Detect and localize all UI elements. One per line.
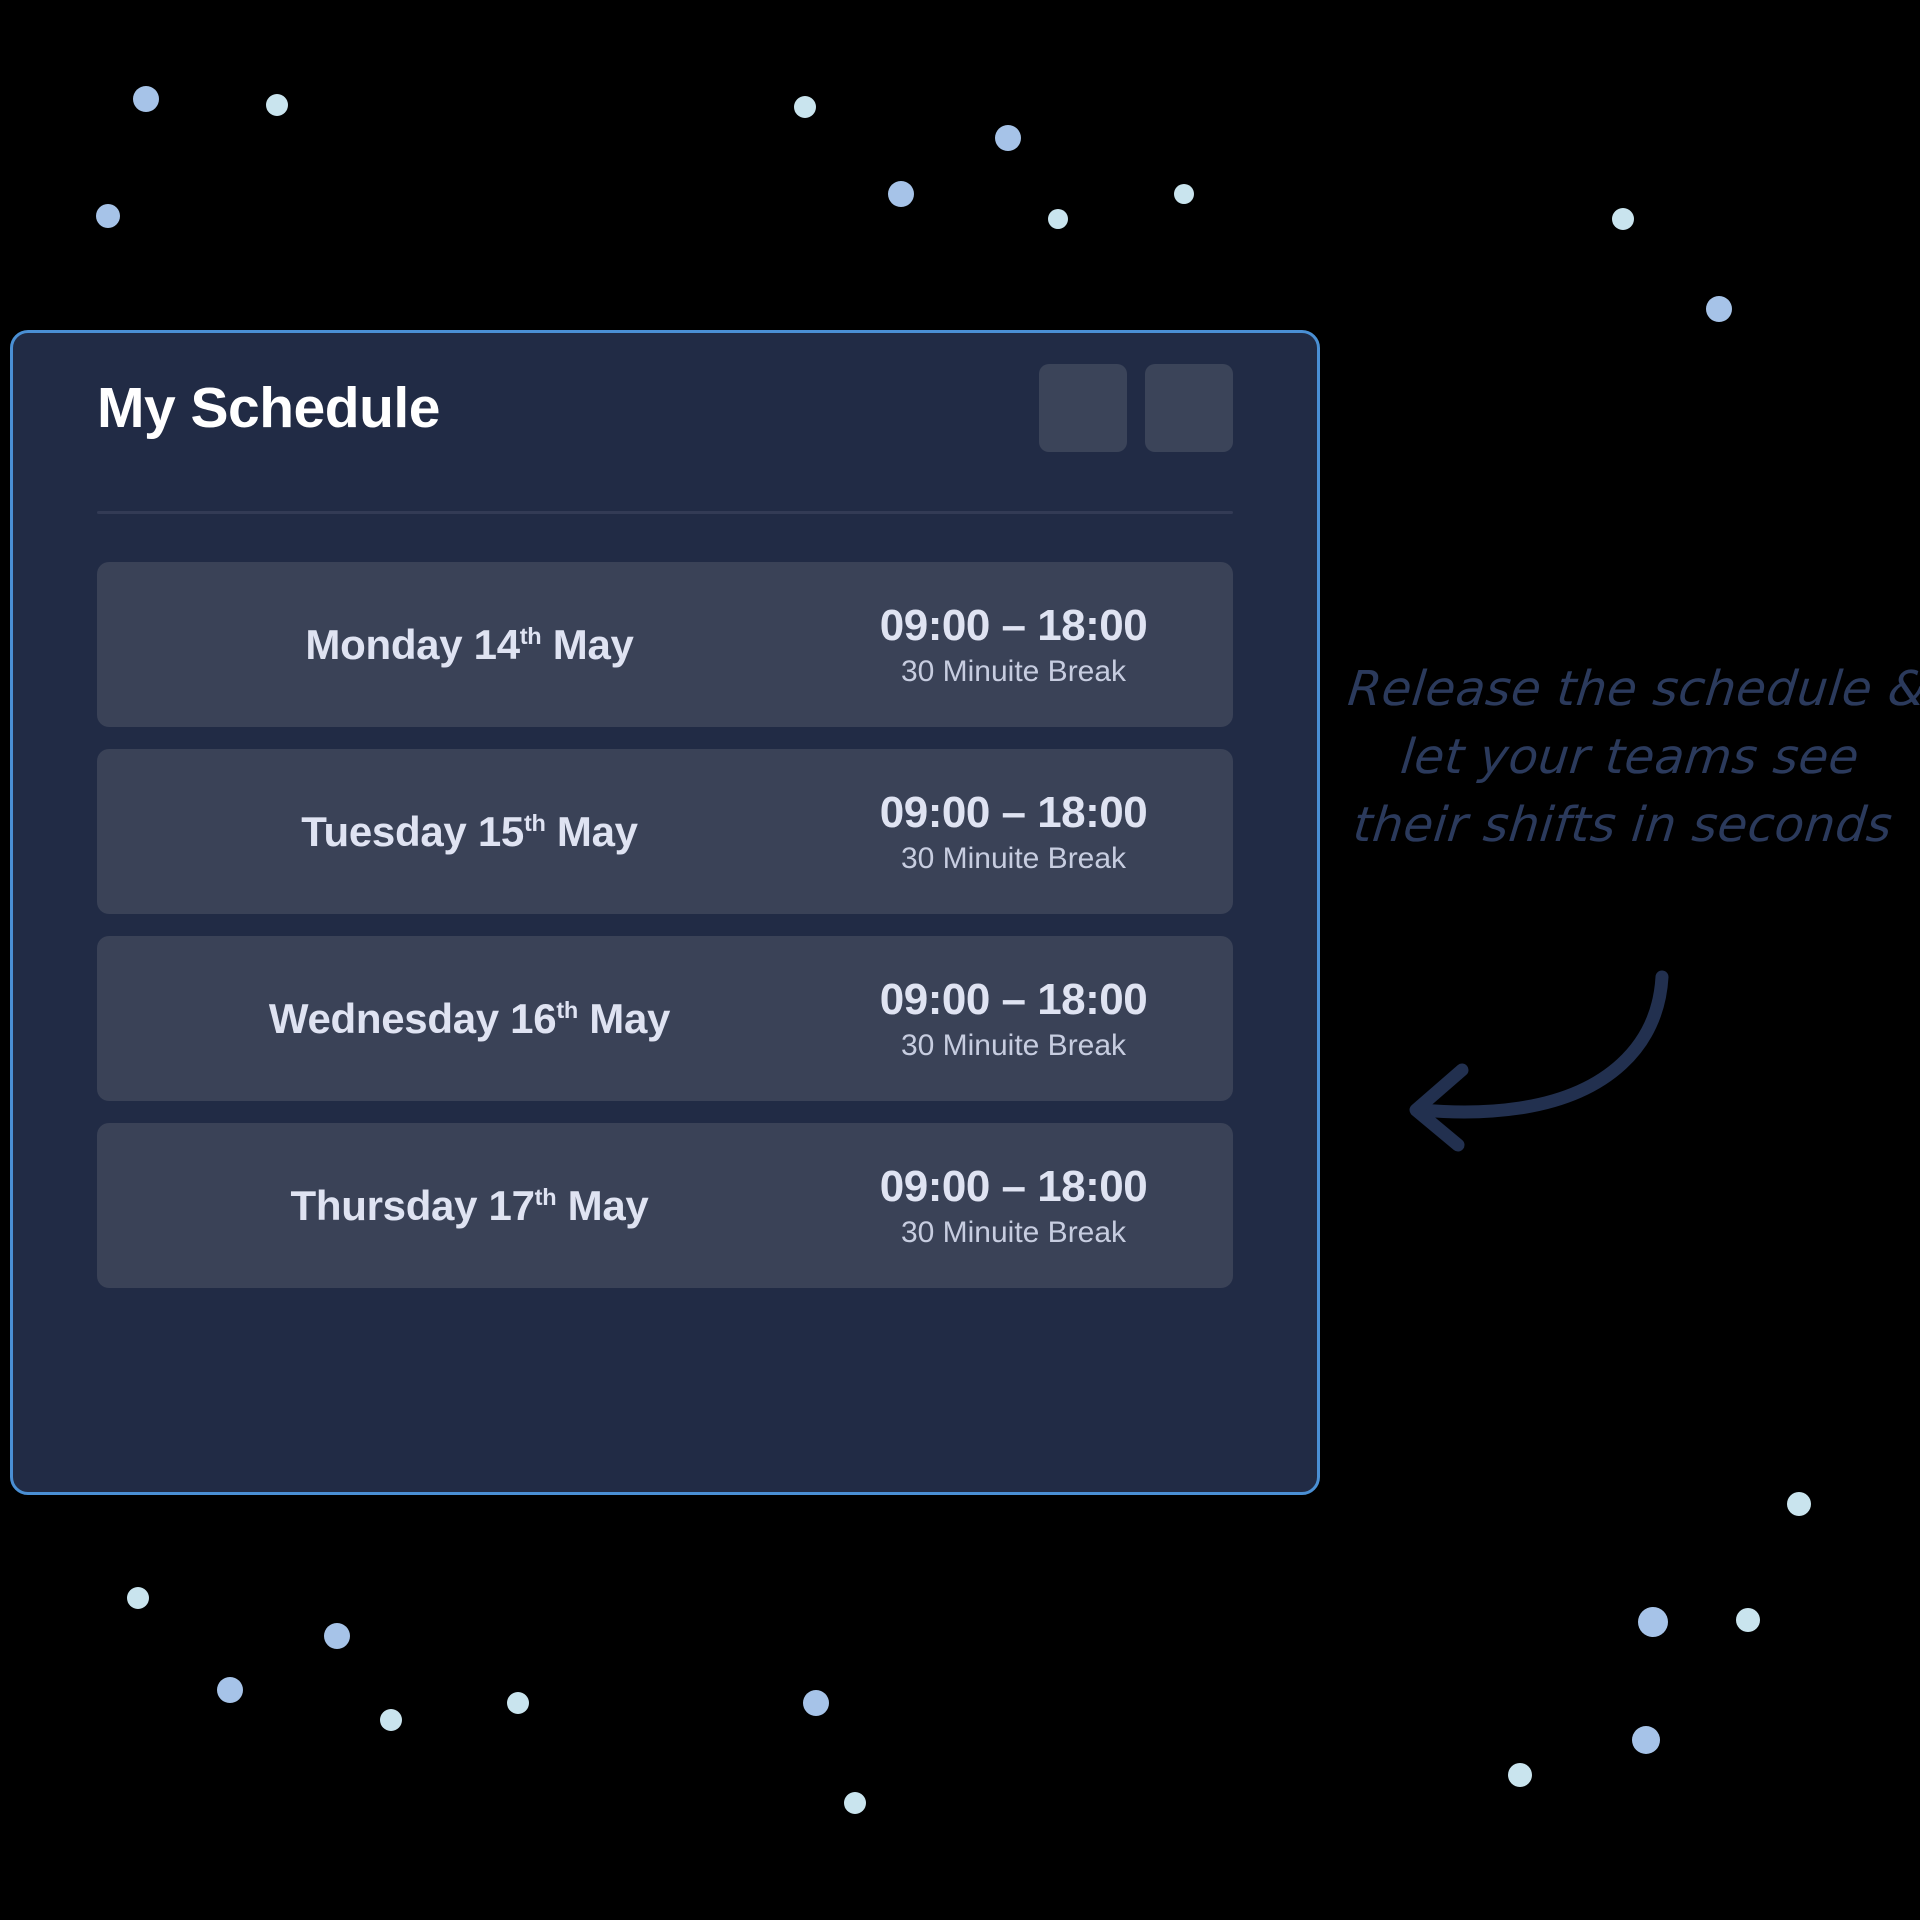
date-ordinal-suffix: th (556, 997, 578, 1023)
decorative-dot (1048, 209, 1068, 229)
schedule-row-day: Tuesday 15th May (97, 808, 842, 856)
decorative-dot (995, 125, 1021, 151)
schedule-row-day: Wednesday 16th May (97, 995, 842, 1043)
schedule-row-day: Monday 14th May (97, 621, 842, 669)
decorative-dot (844, 1792, 866, 1814)
schedule-row[interactable]: Tuesday 15th May09:00 – 18:0030 Minuite … (97, 749, 1233, 914)
annotation-text: Release the schedule & let your teams se… (1329, 655, 1920, 859)
schedule-row-hours: 09:00 – 18:00 (880, 601, 1148, 651)
decorative-dot (127, 1587, 149, 1609)
decorative-dot (96, 204, 120, 228)
decorative-dot (507, 1692, 529, 1714)
decorative-dot (888, 181, 914, 207)
schedule-row-times: 09:00 – 18:0030 Minuite Break (842, 601, 1233, 689)
schedule-row-hours: 09:00 – 18:00 (880, 1162, 1148, 1212)
decorative-dot (794, 96, 816, 118)
schedule-card: My Schedule Monday 14th May09:00 – 18:00… (10, 330, 1320, 1495)
schedule-row[interactable]: Wednesday 16th May09:00 – 18:0030 Minuit… (97, 936, 1233, 1101)
decorative-dot (1706, 296, 1732, 322)
schedule-row-break: 30 Minuite Break (901, 1029, 1126, 1063)
header-action-button-2[interactable] (1145, 364, 1233, 452)
schedule-row-break: 30 Minuite Break (901, 842, 1126, 876)
decorative-dot (803, 1690, 829, 1716)
schedule-row[interactable]: Monday 14th May09:00 – 18:0030 Minuite B… (97, 562, 1233, 727)
schedule-list: Monday 14th May09:00 – 18:0030 Minuite B… (97, 562, 1233, 1288)
schedule-row[interactable]: Thursday 17th May09:00 – 18:0030 Minuite… (97, 1123, 1233, 1288)
date-ordinal-suffix: th (520, 623, 542, 649)
decorative-dot (324, 1623, 350, 1649)
schedule-row-hours: 09:00 – 18:00 (880, 975, 1148, 1025)
decorative-dot (1736, 1608, 1760, 1632)
schedule-row-break: 30 Minuite Break (901, 655, 1126, 689)
schedule-row-times: 09:00 – 18:0030 Minuite Break (842, 1162, 1233, 1250)
schedule-row-break: 30 Minuite Break (901, 1216, 1126, 1250)
card-header: My Schedule (13, 333, 1317, 483)
decorative-dot (217, 1677, 243, 1703)
date-ordinal-suffix: th (535, 1184, 557, 1210)
schedule-row-hours: 09:00 – 18:00 (880, 788, 1148, 838)
decorative-dot (1787, 1492, 1811, 1516)
decorative-dot (380, 1709, 402, 1731)
schedule-row-times: 09:00 – 18:0030 Minuite Break (842, 788, 1233, 876)
page-title: My Schedule (97, 380, 440, 437)
schedule-row-day: Thursday 17th May (97, 1182, 842, 1230)
header-divider (97, 511, 1233, 514)
decorative-dot (133, 86, 159, 112)
date-ordinal-suffix: th (524, 810, 546, 836)
decorative-dot (1612, 208, 1634, 230)
decorative-dot (1638, 1607, 1668, 1637)
curved-arrow-icon (1370, 955, 1710, 1165)
decorative-dot (1508, 1763, 1532, 1787)
schedule-row-times: 09:00 – 18:0030 Minuite Break (842, 975, 1233, 1063)
header-action-button-1[interactable] (1039, 364, 1127, 452)
decorative-dot (1632, 1726, 1660, 1754)
decorative-dot (266, 94, 288, 116)
header-actions (1039, 364, 1233, 452)
decorative-dot (1174, 184, 1194, 204)
